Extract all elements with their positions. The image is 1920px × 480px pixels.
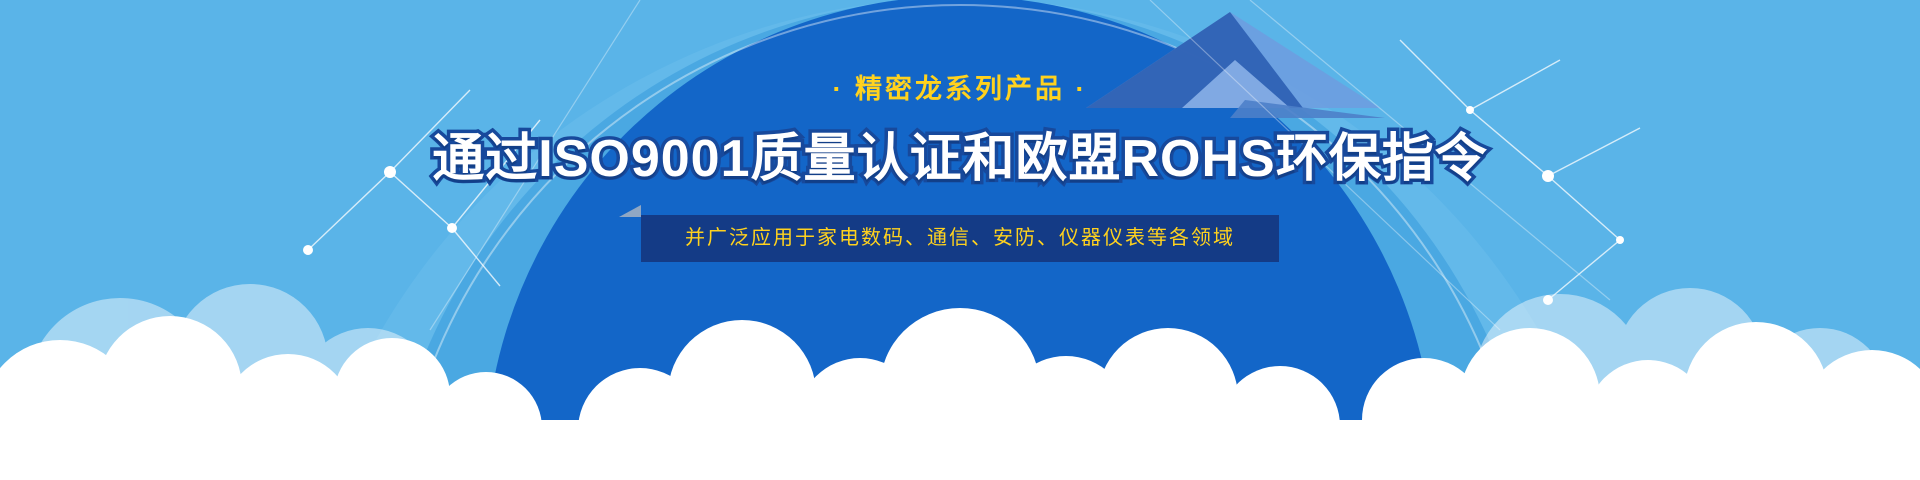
constellation-left-icon <box>308 90 540 286</box>
product-certification-banner: · 精密龙系列产品 · 通过ISO9001质量认证和欧盟ROHS环保指令 并广泛… <box>0 0 1920 480</box>
cloud-bank-icon <box>0 270 1920 480</box>
constellation-left-dots <box>303 166 457 255</box>
mountain-triangle-icon <box>1086 12 1385 118</box>
constellation-right-icon <box>1400 40 1640 300</box>
